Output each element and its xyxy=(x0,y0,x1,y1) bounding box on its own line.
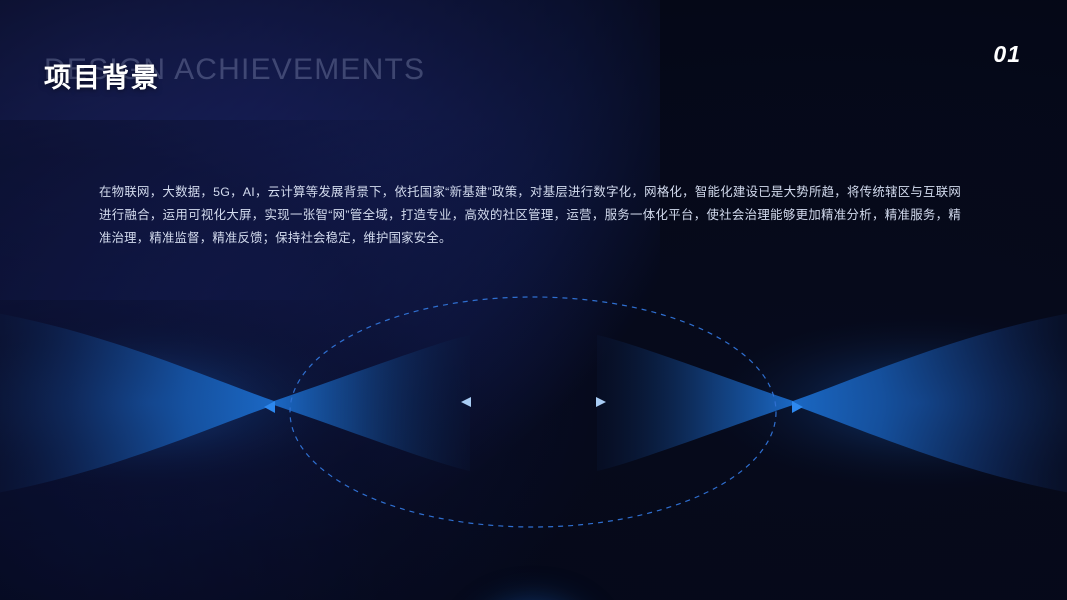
architecture-diagram: 网格通app 随手拍小程序 … … 政务外网 随手拍小程序 网格通app 政务外… xyxy=(0,255,1067,585)
diagram-vector-layer xyxy=(0,255,1067,585)
page-number: 01 xyxy=(993,41,1021,68)
body-paragraph: 在物联网，大数据，5G，AI，云计算等发展背景下，依托国家“新基建”政策，对基层… xyxy=(99,181,961,250)
page-title: 项目背景 xyxy=(44,56,160,95)
slide-canvas: DESIGN ACHIEVEMENTS 项目背景 01 在物联网，大数据，5G，… xyxy=(0,0,1067,600)
